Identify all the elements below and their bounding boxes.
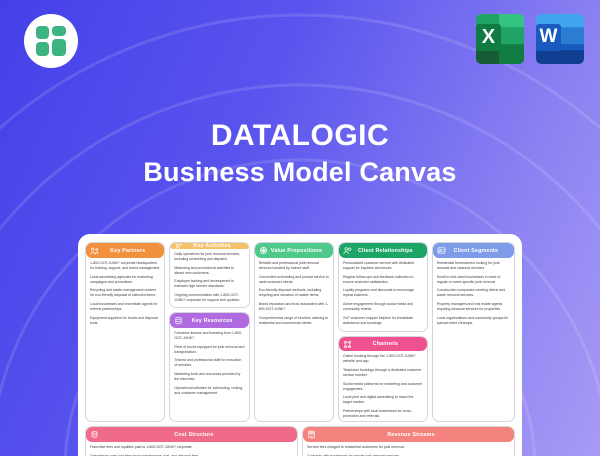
coins-stack-icon [90,430,99,439]
block-item: Loyalty programs and discounts to encour… [343,288,423,298]
block-item: Marketing and promotional activities to … [174,266,244,276]
canvas-block-key-partners[interactable]: Key Partners1-800-GOT-JUNK? corporate he… [85,242,165,422]
page-title: DATALOGIC Business Model Canvas [0,118,600,190]
block-item: Small to mid-sized businesses in need of… [437,275,510,285]
block-item: Franchise fees and royalties paid to 1-8… [90,445,293,450]
block-body-key-partners: 1-800-GOT-JUNK? corporate headquarters f… [86,258,164,328]
block-item: Employee training and development to mai… [174,279,244,289]
block-header-cost-structure: Cost Structure [86,427,297,442]
block-item: Construction companies needing debris an… [437,288,510,298]
block-item: Active engagement through social media a… [343,302,423,312]
block-header-channels: Channels [339,337,427,352]
block-item: Daily operations for junk removal servic… [174,252,244,262]
block-item: Brand reputation and trust associated wi… [259,302,329,312]
canvas-bottom-row: Cost StructureFranchise fees and royalti… [85,426,515,456]
share-network-icon [343,340,352,349]
canvas-block-cost-structure[interactable]: Cost StructureFranchise fees and royalti… [85,426,298,456]
block-title-key-resources: Key Resources [186,318,244,324]
block-item: Customer service and follow-ups to ensur… [174,307,244,309]
block-body-cost-structure: Franchise fees and royalties paid to 1-8… [86,442,297,456]
block-title-client-segments: Client Segments [449,248,510,254]
block-item: Residential homeowners looking for junk … [437,261,510,271]
canvas-block-revenue-streams[interactable]: Revenue StreamsService fees charged to r… [302,426,515,456]
block-item: Convenient scheduling and prompt service… [259,275,329,285]
block-header-value-propositions: Value Propositions [255,243,333,258]
block-item: Property managers and real estate agents… [437,302,510,312]
block-body-key-activities: Daily operations for junk removal servic… [170,249,248,308]
block-item: Fleet of trucks equipped for junk remova… [174,345,244,355]
business-model-canvas: Key Partners1-800-GOT-JUNK? corporate he… [78,234,522,456]
excel-icon-letter: X [476,24,501,51]
canvas-block-key-activities[interactable]: Key ActivitiesDaily operations for junk … [169,242,249,308]
block-item: Trained and professional staff for execu… [174,358,244,368]
block-header-client-segments: Client Segments [433,243,514,258]
canvas-block-key-resources[interactable]: Key ResourcesFranchise license and brand… [169,312,249,422]
word-icon-letter: W [536,24,561,51]
block-item: Equipment suppliers for trucks and dispo… [90,316,160,326]
block-item: Local organizations and community groups… [437,316,510,326]
block-body-key-resources: Franchise license and branding from 1-80… [170,328,248,398]
block-item: Operational software for scheduling, rou… [174,386,244,396]
block-title-revenue-streams: Revenue Streams [319,432,510,438]
word-icon[interactable]: W [536,14,584,64]
block-header-revenue-streams: Revenue Streams [303,427,514,442]
block-header-key-partners: Key Partners [86,243,164,258]
block-item: Local businesses and real estate agents … [90,302,160,312]
block-item: Franchise license and branding from 1-80… [174,331,244,341]
block-title-channels: Channels [355,341,423,347]
page-subtitle: Business Model Canvas [0,156,600,190]
excel-icon[interactable]: X [476,14,524,64]
block-body-client-relationships: Personalized customer service with dedic… [339,258,427,328]
block-body-client-segments: Residential homeowners looking for junk … [433,258,514,328]
block-item: 24/7 customer support helpline for immed… [343,316,423,326]
block-item: Reliable and professional junk removal s… [259,261,329,271]
user-card-icon [437,246,446,255]
canvas-block-client-relationships[interactable]: Client RelationshipsPersonalized custome… [338,242,428,332]
canvas-block-value-propositions[interactable]: Value PropositionsReliable and professio… [254,242,334,422]
block-item: Partnerships with local businesses for c… [343,409,423,419]
block-title-cost-structure: Cost Structure [102,432,293,438]
block-item: Telephone bookings through a dedicated c… [343,368,423,378]
gift-icon [259,246,268,255]
block-body-channels: Online booking through the 1-800-GOT-JUN… [339,351,427,421]
block-item: Local print and digital advertising to r… [343,395,423,405]
people-heart-icon [343,246,352,255]
database-icon [174,316,183,325]
export-icons: X W [476,14,584,64]
block-item: Personalized customer service with dedic… [343,261,423,271]
block-title-client-relationships: Client Relationships [355,248,423,254]
block-item: Service fees charged to residential cust… [307,445,510,450]
block-title-key-partners: Key Partners [102,248,160,254]
calculator-icon [307,430,316,439]
block-header-client-relationships: Client Relationships [339,243,427,258]
block-body-value-propositions: Reliable and professional junk removal s… [255,258,333,328]
block-item: Comprehensive range of services catering… [259,316,329,326]
block-title-value-propositions: Value Propositions [271,248,329,254]
app-logo[interactable] [24,14,78,68]
grid-logo-icon [36,26,66,56]
block-item: Social media platforms for marketing and… [343,382,423,392]
canvas-top-row: Key Partners1-800-GOT-JUNK? corporate he… [85,242,515,422]
block-item: Local advertising agencies for marketing… [90,275,160,285]
block-item: 1-800-GOT-JUNK? corporate headquarters f… [90,261,160,271]
block-item: Recycling and waste management centers f… [90,288,160,298]
block-item: Eco-friendly disposal methods, including… [259,288,329,298]
block-item: Regular follow-ups and feedback collecti… [343,275,423,285]
block-body-revenue-streams: Service fees charged to residential cust… [303,442,514,456]
block-header-key-resources: Key Resources [170,313,248,328]
block-item: Marketing tools and resources provided b… [174,372,244,382]
brand-name: DATALOGIC [0,118,600,153]
canvas-block-channels[interactable]: ChannelsOnline booking through the 1-800… [338,336,428,422]
block-item: Ongoing communication with 1-800-GOT-JUN… [174,293,244,303]
canvas-block-client-segments[interactable]: Client SegmentsResidential homeowners lo… [432,242,515,422]
block-item: Online booking through the 1-800-GOT-JUN… [343,354,423,364]
handshake-icon [90,246,99,255]
top-bar: X W [0,0,600,80]
